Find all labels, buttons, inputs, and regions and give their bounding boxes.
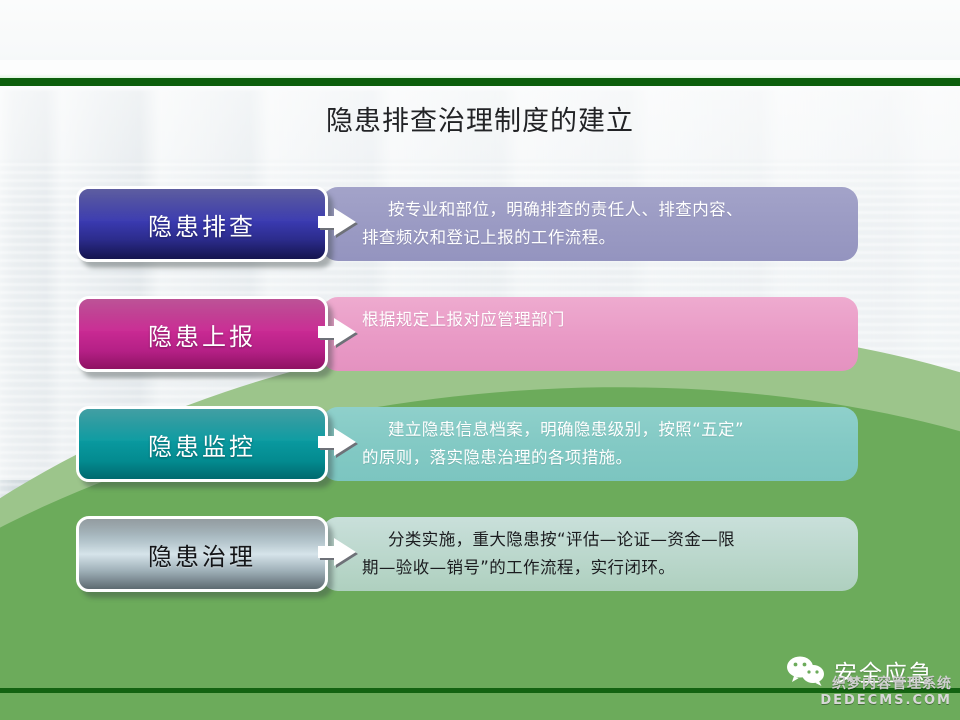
process-step-pill[interactable]: 隐患排查 — [76, 186, 328, 262]
process-step-label: 隐患监控 — [148, 427, 256, 462]
process-row: 根据规定上报对应管理部门 隐患上报 — [0, 296, 960, 382]
process-step-pill[interactable]: 隐患监控 — [76, 406, 328, 482]
row-description-line: 分类实施，重大隐患按“评估—论证—资金—限 — [362, 526, 840, 554]
row-description-panel: 建立隐患信息档案，明确隐患级别，按照“五定” 的原则，落实隐患治理的各项措施。 — [322, 407, 858, 481]
watermark-cn: 织梦内容管理系统 — [752, 676, 952, 693]
arrow-right-icon — [318, 537, 364, 571]
watermark: 织梦内容管理系统 DEDECMS.COM — [752, 676, 952, 709]
row-description-line: 期—验收—销号”的工作流程，实行闭环。 — [362, 554, 840, 582]
row-description-line: 按专业和部位，明确排查的责任人、排查内容、 — [362, 196, 840, 224]
process-row: 建立隐患信息档案，明确隐患级别，按照“五定” 的原则，落实隐患治理的各项措施。 … — [0, 406, 960, 492]
process-step-label: 隐患上报 — [148, 317, 256, 352]
process-step-pill[interactable]: 隐患上报 — [76, 296, 328, 372]
watermark-en: DEDECMS.COM — [752, 693, 952, 709]
process-step-label: 隐患治理 — [148, 537, 256, 572]
row-description-line: 排查频次和登记上报的工作流程。 — [362, 224, 840, 252]
arrow-right-icon — [318, 427, 364, 461]
arrow-right-icon — [318, 317, 364, 351]
process-step-label: 隐患排查 — [148, 207, 256, 242]
slide-root: 隐患排查治理制度的建立 按专业和部位，明确排查的责任人、排查内容、 排查频次和登… — [0, 0, 960, 720]
arrow-right-icon — [318, 207, 364, 241]
process-row: 分类实施，重大隐患按“评估—论证—资金—限 期—验收—销号”的工作流程，实行闭环… — [0, 516, 960, 602]
row-description-line: 建立隐患信息档案，明确隐患级别，按照“五定” — [362, 416, 840, 444]
process-row: 按专业和部位，明确排查的责任人、排查内容、 排查频次和登记上报的工作流程。 隐患… — [0, 186, 960, 272]
row-description-panel: 按专业和部位，明确排查的责任人、排查内容、 排查频次和登记上报的工作流程。 — [322, 187, 858, 261]
process-rows: 按专业和部位，明确排查的责任人、排查内容、 排查频次和登记上报的工作流程。 隐患… — [0, 0, 960, 720]
row-description-line: 的原则，落实隐患治理的各项措施。 — [362, 444, 840, 472]
process-step-pill[interactable]: 隐患治理 — [76, 516, 328, 592]
row-description-line: 根据规定上报对应管理部门 — [362, 306, 840, 334]
row-description-panel: 根据规定上报对应管理部门 — [322, 297, 858, 371]
row-description-panel: 分类实施，重大隐患按“评估—论证—资金—限 期—验收—销号”的工作流程，实行闭环… — [322, 517, 858, 591]
